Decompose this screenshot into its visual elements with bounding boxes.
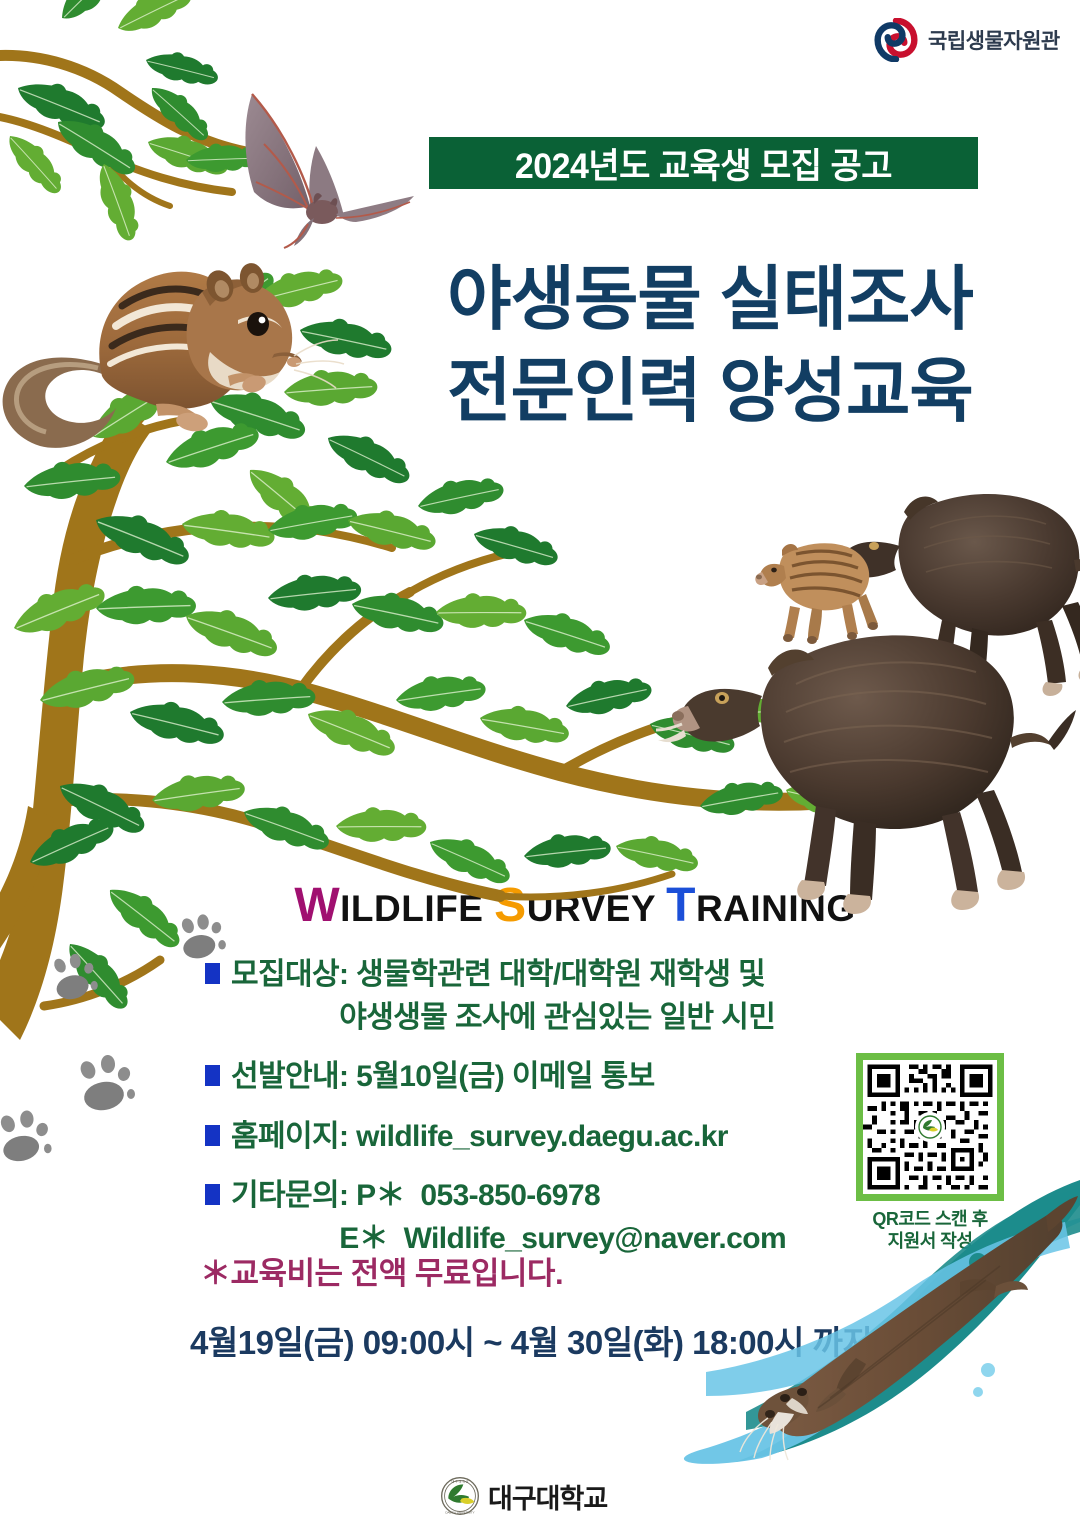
wild-boar-piglet-illustration xyxy=(755,543,878,644)
daegu-university-emblem-icon xyxy=(918,1115,942,1139)
announcement-banner: 2024년도 교육생 모집 공고 xyxy=(429,137,978,189)
wildlife-fauna-illustrations xyxy=(0,0,1080,1527)
agency-name: 국립생물자원관 xyxy=(928,25,1060,55)
svg-text:대 구 대 학 교: 대 구 대 학 교 xyxy=(451,1478,468,1483)
list-item-line: 모집대상: 생물학관련 대학/대학원 재학생 및 xyxy=(231,958,765,991)
list-item: 홈페이지: wildlife_survey.daegu.ac.kr xyxy=(205,1116,905,1159)
spacer xyxy=(205,1162,905,1175)
page-title: 야생동물 실태조사 전문인력 양성교육 xyxy=(390,253,1030,438)
subtitle-cap-t: T xyxy=(666,879,696,932)
list-item-label-target: 모집대상: 생물학관련 대학/대학원 재학생 및 야생생물 조사에 관심있는 일… xyxy=(231,954,775,1039)
university-logo: 대 구 대 학 교 DAEGU UNIVERSITY 대구대학교 xyxy=(440,1476,607,1516)
qr-center-emblem xyxy=(917,1114,943,1140)
english-subtitle: WILDLIFE SURVEY TRAINING xyxy=(250,878,900,933)
animal-paw-prints-illustration xyxy=(0,914,226,1164)
water-wave-shapes xyxy=(0,0,1080,1527)
list-item-line: 야생생물 조사에 관심있는 일반 시민 xyxy=(231,1001,775,1034)
flying-bat-illustration xyxy=(245,94,414,248)
korea-government-taegeuk-icon xyxy=(874,18,918,62)
square-bullet-icon xyxy=(205,1065,220,1086)
contact-phone-line: 기타문의: P＊ 053-850-6978 xyxy=(231,1179,600,1212)
page-title-line-2: 전문인력 양성교육 xyxy=(390,345,1030,437)
qr-code[interactable] xyxy=(856,1053,1004,1201)
info-list: 모집대상: 생물학관련 대학/대학원 재학생 및 야생생물 조사에 관심있는 일… xyxy=(205,954,905,1265)
qr-caption-line-1: QR코드 스캔 후 xyxy=(850,1208,1010,1230)
announcement-banner-text: 2024년도 교육생 모집 공고 xyxy=(515,138,892,189)
free-tuition-note: ＊교육비는 전액 무료입니다. xyxy=(200,1248,563,1293)
subtitle-cap-w: W xyxy=(294,879,340,932)
application-period: 4월19일(금) 09:00시 ~ 4월 30일(화) 18:00시 까지 xyxy=(190,1316,872,1364)
wild-boar-illustration xyxy=(834,494,1080,698)
subtitle-cap-s: S xyxy=(494,879,527,932)
poster-canvas: 국립생물자원관 2024년도 교육생 모집 공고 야생동물 실태조사 전문인력 … xyxy=(0,0,1080,1527)
square-bullet-icon xyxy=(205,1125,220,1146)
square-bullet-icon xyxy=(205,963,220,984)
page-title-line-1: 야생동물 실태조사 xyxy=(390,253,1030,345)
list-item-label-selection: 선발안내: 5월10일(금) 이메일 통보 xyxy=(231,1056,655,1099)
square-bullet-icon xyxy=(205,1184,220,1205)
agency-logo: 국립생물자원관 xyxy=(874,18,1060,62)
university-name: 대구대학교 xyxy=(488,1477,607,1516)
list-item: 모집대상: 생물학관련 대학/대학원 재학생 및 야생생물 조사에 관심있는 일… xyxy=(205,954,905,1039)
qr-caption: QR코드 스캔 후 지원서 작성 xyxy=(850,1208,1010,1253)
spacer xyxy=(205,1103,905,1116)
wild-boar-large-illustration xyxy=(656,635,1076,914)
subtitle-word-survey: URVEY xyxy=(527,888,656,929)
chipmunk-illustration xyxy=(3,261,344,448)
oak-tree-illustration xyxy=(0,0,1080,1527)
subtitle-word-training: RAINING xyxy=(696,888,856,929)
spacer xyxy=(205,1043,905,1056)
subtitle-word-wildlife: ILDLIFE xyxy=(340,888,483,929)
qr-caption-line-2: 지원서 작성 xyxy=(850,1230,1010,1252)
daegu-university-seal-icon: 대 구 대 학 교 DAEGU UNIVERSITY xyxy=(440,1476,480,1516)
list-item: 선발안내: 5월10일(금) 이메일 통보 xyxy=(205,1056,905,1099)
list-item-label-homepage[interactable]: 홈페이지: wildlife_survey.daegu.ac.kr xyxy=(231,1116,728,1159)
qr-block[interactable]: QR코드 스캔 후 지원서 작성 xyxy=(850,1053,1010,1253)
svg-text:DAEGU UNIVERSITY: DAEGU UNIVERSITY xyxy=(445,1511,474,1515)
